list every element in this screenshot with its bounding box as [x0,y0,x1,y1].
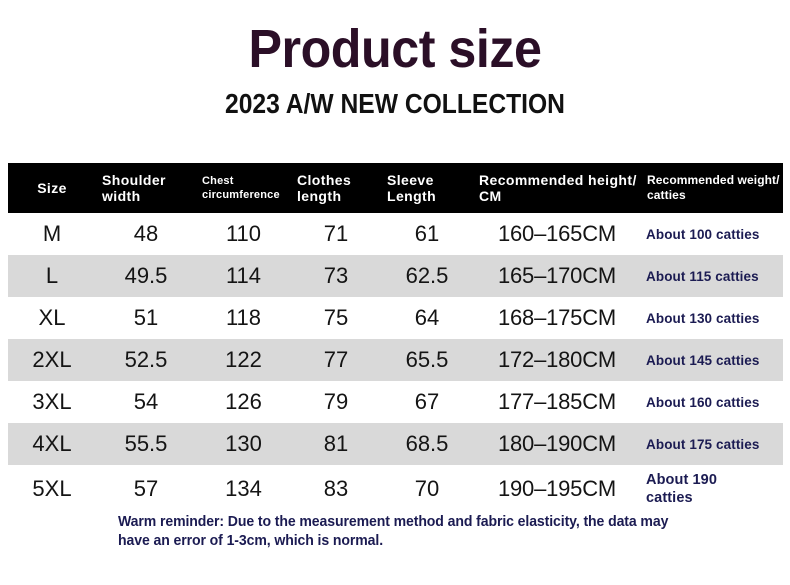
cell-recommended-height: 165–170CM [473,263,641,289]
cell-shoulder-width: 55.5 [96,431,196,457]
warm-reminder-note: Warm reminder: Due to the measurement me… [118,513,700,551]
cell-size: L [8,263,96,289]
cell-recommended-weight: About 130 catties [641,310,783,327]
cell-shoulder-width: 52.5 [96,347,196,373]
table-row: 2XL 52.5 122 77 65.5 172–180CM About 145… [8,339,783,381]
cell-chest-circumference: 130 [196,431,291,457]
table-row: M 48 110 71 61 160–165CM About 100 catti… [8,213,783,255]
cell-size: XL [8,305,96,331]
column-header-sleeve-length-label: Sleeve Length [387,172,436,204]
cell-clothes-length: 83 [291,476,381,502]
column-header-size-label: Size [37,180,67,196]
cell-sleeve-length: 65.5 [381,347,473,373]
table-row: XL 51 118 75 64 168–175CM About 130 catt… [8,297,783,339]
cell-size: 3XL [8,389,96,415]
cell-shoulder-width: 51 [96,305,196,331]
cell-sleeve-length: 64 [381,305,473,331]
page-title: Product size [28,18,763,80]
table-row: L 49.5 114 73 62.5 165–170CM About 115 c… [8,255,783,297]
cell-size: M [8,221,96,247]
column-header-shoulder-width: Shoulder width [96,172,196,204]
cell-shoulder-width: 49.5 [96,263,196,289]
cell-recommended-weight: About 160 catties [641,394,783,411]
cell-chest-circumference: 134 [196,476,291,502]
column-header-size: Size [8,180,96,196]
cell-shoulder-width: 57 [96,476,196,502]
cell-clothes-length: 77 [291,347,381,373]
cell-shoulder-width: 48 [96,221,196,247]
column-header-recommended-weight-label: Recommended weight/ catties [647,173,780,203]
cell-size: 2XL [8,347,96,373]
column-header-shoulder-width-label: Shoulder width [102,172,166,204]
cell-recommended-height: 180–190CM [473,431,641,457]
cell-clothes-length: 73 [291,263,381,289]
cell-shoulder-width: 54 [96,389,196,415]
column-header-recommended-weight: Recommended weight/ catties [641,173,783,203]
cell-sleeve-length: 62.5 [381,263,473,289]
column-header-clothes-length: Clothes length [291,172,381,204]
column-header-chest-circumference: Chest circumference [196,174,291,202]
column-header-recommended-height: Recommended height/ CM [473,172,641,204]
cell-size: 4XL [8,431,96,457]
table-row: 5XL 57 134 83 70 190–195CM About 190 cat… [8,465,783,512]
cell-recommended-height: 172–180CM [473,347,641,373]
column-header-recommended-height-label: Recommended height/ CM [479,172,637,204]
cell-recommended-height: 177–185CM [473,389,641,415]
product-size-chart: Product size 2023 A/W NEW COLLECTION Siz… [0,0,790,585]
cell-clothes-length: 75 [291,305,381,331]
cell-sleeve-length: 67 [381,389,473,415]
cell-chest-circumference: 114 [196,263,291,289]
cell-size: 5XL [8,476,96,502]
title-block: Product size 2023 A/W NEW COLLECTION [0,18,790,120]
cell-clothes-length: 79 [291,389,381,415]
page-subtitle: 2023 A/W NEW COLLECTION [47,88,742,120]
cell-chest-circumference: 122 [196,347,291,373]
cell-recommended-height: 190–195CM [473,476,641,502]
cell-chest-circumference: 118 [196,305,291,331]
cell-sleeve-length: 70 [381,476,473,502]
column-header-chest-circumference-label: Chest circumference [202,174,280,202]
table-row: 4XL 55.5 130 81 68.5 180–190CM About 175… [8,423,783,465]
cell-recommended-weight: About 100 catties [641,226,783,243]
cell-clothes-length: 71 [291,221,381,247]
cell-recommended-height: 160–165CM [473,221,641,247]
cell-clothes-length: 81 [291,431,381,457]
column-header-sleeve-length: Sleeve Length [381,172,473,204]
cell-recommended-weight: About 145 catties [641,352,783,369]
table-header-row: Size Shoulder width Chest circumference … [8,163,783,213]
table-row: 3XL 54 126 79 67 177–185CM About 160 cat… [8,381,783,423]
cell-sleeve-length: 61 [381,221,473,247]
cell-chest-circumference: 126 [196,389,291,415]
cell-recommended-weight: About 190 catties [641,471,741,507]
cell-chest-circumference: 110 [196,221,291,247]
cell-sleeve-length: 68.5 [381,431,473,457]
cell-recommended-height: 168–175CM [473,305,641,331]
size-table: Size Shoulder width Chest circumference … [8,163,783,512]
cell-recommended-weight: About 115 catties [641,268,783,285]
column-header-clothes-length-label: Clothes length [297,172,351,204]
cell-recommended-weight: About 175 catties [641,436,783,453]
